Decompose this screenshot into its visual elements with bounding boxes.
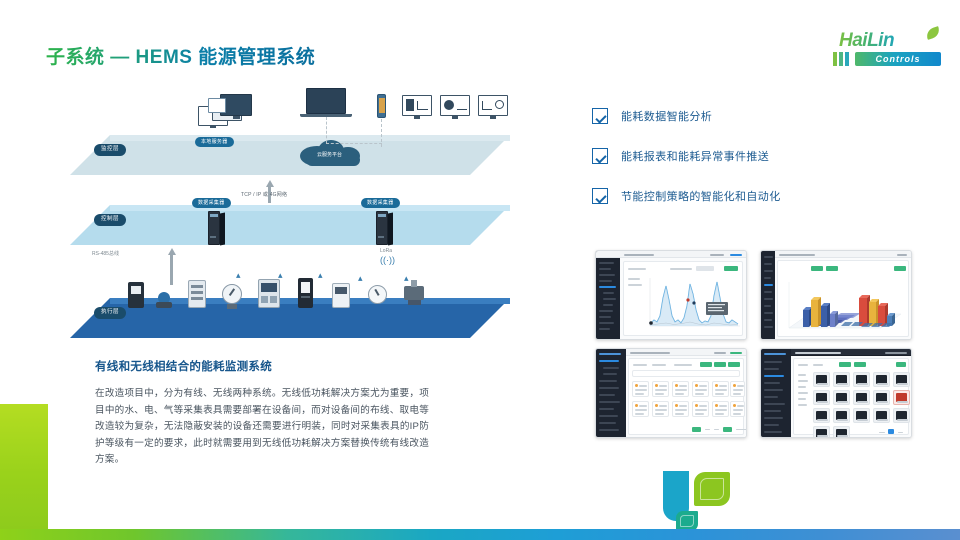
- checkbox-checked-icon[interactable]: [592, 148, 608, 164]
- wifi-signal-icon-3: ▴: [318, 270, 323, 281]
- pagination-prev[interactable]: [692, 427, 701, 432]
- page-title: 子系统 — HEMS 能源管理系统: [46, 42, 315, 69]
- connector-cloud-bus: [326, 143, 382, 144]
- exec-uplink-head: [168, 248, 176, 255]
- connector-laptop-cloud: [326, 117, 327, 143]
- uplink-arrow-head: [266, 180, 274, 187]
- layer-tag-control: 控制层: [94, 214, 126, 226]
- checkbox-checked-icon[interactable]: [592, 108, 608, 124]
- screenshot-content: [626, 356, 746, 437]
- screenshot-energy-trend-line-chart[interactable]: [595, 250, 747, 340]
- screenshot-topbar: [596, 251, 746, 258]
- node-tag-collector-wired: 数据采集器: [192, 198, 231, 208]
- brand-logo: HaiLin Controls: [831, 30, 943, 70]
- logo-subtitle: Controls: [855, 52, 941, 66]
- screenshot-energy-3d-bar-chart[interactable]: [760, 250, 912, 340]
- bar3d-chart-svg: [781, 276, 909, 338]
- diagram-plane-control: [70, 205, 510, 263]
- section-subtitle: 有线和无线相结合的能耗监测系统: [95, 358, 435, 374]
- node-tag-local-server: 本地服务器: [195, 137, 234, 147]
- exec-uplink-stem: [170, 255, 173, 285]
- layer-tag-execution: 执行层: [94, 307, 126, 319]
- line-chart-svg: [644, 276, 742, 334]
- network-protocol-label: TCP / IP 或 4G网络: [241, 191, 287, 198]
- screenshot-sidebar: [761, 349, 791, 437]
- lora-signal-icon: ((·)): [380, 255, 395, 265]
- section-paragraph: 在改造项目中，分为有线、无线两种系统。无线低功耗解决方案尤为重要，项目中的水、电…: [95, 386, 429, 469]
- rs485-bus-label: RS-485总线: [92, 250, 119, 257]
- screenshot-device-monitor-grid[interactable]: [760, 348, 912, 438]
- checklist-item-2[interactable]: 能耗报表和能耗异常事件推送: [592, 148, 922, 164]
- screenshot-content: [791, 356, 911, 437]
- pagination-next[interactable]: [723, 427, 732, 432]
- screenshot-topbar: [791, 349, 911, 356]
- bottom-gradient-bar: [0, 529, 960, 540]
- layer-tag-monitoring: 监控层: [94, 144, 126, 156]
- logo-bars-icon: [833, 52, 853, 66]
- device-card-alert[interactable]: [893, 390, 910, 405]
- node-tag-collector-wireless: 数据采集器: [361, 198, 400, 208]
- screenshot-sidebar: [761, 251, 775, 339]
- checkbox-checked-icon[interactable]: [592, 188, 608, 204]
- checklist-item-1-label: 能耗数据智能分析: [621, 108, 712, 124]
- screenshot-content: [775, 258, 911, 339]
- screenshot-topbar: [626, 349, 746, 356]
- screenshot-content: [620, 258, 746, 339]
- checklist-item-3-label: 节能控制策略的智能化和自动化: [621, 188, 781, 204]
- wifi-signal-icon-5: ▴: [404, 273, 409, 284]
- wifi-signal-icon-4: ▴: [358, 273, 363, 284]
- diagram-plane-monitoring: [70, 135, 510, 193]
- wifi-signal-icon-1: ▴: [236, 270, 241, 281]
- checklist-item-1[interactable]: 能耗数据智能分析: [592, 108, 922, 124]
- checklist-item-2-label: 能耗报表和能耗异常事件推送: [621, 148, 769, 164]
- checklist-item-3[interactable]: 节能控制策略的智能化和自动化: [592, 188, 922, 204]
- screenshot-sidebar: [596, 349, 626, 437]
- dashboard-screenshot-gallery: [595, 250, 915, 440]
- decorative-leaf-green: [694, 472, 730, 506]
- bottom-accent-block: [0, 404, 48, 529]
- node-tag-cloud-platform: 云服务平台: [311, 150, 348, 160]
- feature-checklist: 能耗数据智能分析 能耗报表和能耗异常事件推送 节能控制策略的智能化和自动化: [592, 108, 922, 228]
- decorative-leaf-teal: [676, 511, 698, 531]
- lora-label: LoRa: [373, 248, 399, 254]
- screenshot-device-card-list[interactable]: [595, 348, 747, 438]
- screenshot-sidebar: [596, 251, 620, 339]
- screenshot-topbar: [775, 251, 911, 258]
- pagination-current-page[interactable]: [888, 429, 894, 434]
- architecture-diagram: 监控层 控制层 执行层 本地服务器: [70, 80, 530, 345]
